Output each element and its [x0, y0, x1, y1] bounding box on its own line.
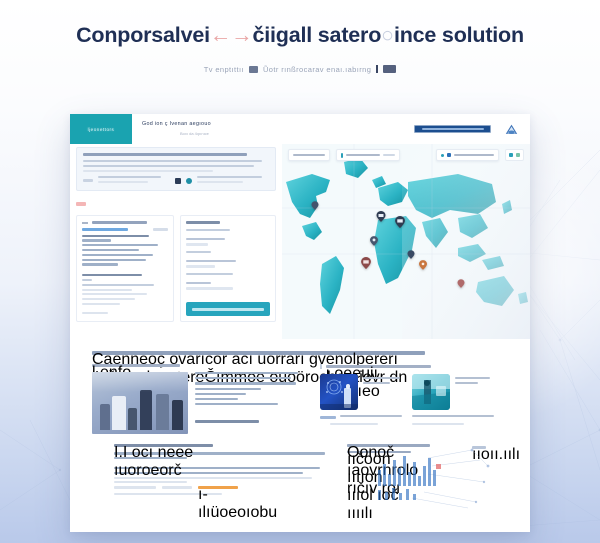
- marker-iberia[interactable]: [370, 236, 378, 246]
- thumb-teal-caption: [455, 374, 494, 387]
- content-section: Caenneoç ovarıcor acı uorrarı gvenolpere…: [70, 339, 530, 532]
- page-title-part3: ince solution: [394, 23, 524, 47]
- marker-mideast[interactable]: [407, 250, 414, 259]
- map-toolbar-spacer: [406, 150, 430, 160]
- primary-action-button[interactable]: [414, 125, 491, 133]
- info-card: [76, 147, 276, 191]
- map-filter-label: [293, 154, 325, 156]
- info-card-heading: [83, 153, 247, 156]
- marker-uk[interactable]: [377, 211, 386, 222]
- page-subtitle: Tv enptıttıı Ũotr rınßrocarav enaı.ıabır…: [0, 65, 600, 74]
- subtitle-divider-icon: [376, 65, 378, 73]
- subtitle-badge-icon: [383, 65, 396, 73]
- content-left-label-text: l enfo veaoın: [92, 364, 180, 367]
- info-card-meta-row: [83, 176, 269, 186]
- page-title-accent: ←→: [210, 23, 253, 47]
- form-field-2-label: [186, 260, 236, 262]
- map-search-hint: [383, 154, 395, 156]
- app-header-actions: [414, 114, 530, 144]
- thumb-blue-caption: [363, 374, 402, 387]
- bottom-right-caption: Oonoč ıaovrnrolo rıčıv roı: [347, 444, 430, 447]
- page-title-accent2: ○: [381, 23, 394, 47]
- map-search-control[interactable]: [336, 149, 400, 161]
- thumb-blue-meta: [320, 415, 402, 425]
- marker-india[interactable]: [419, 260, 427, 270]
- thumb-blue-tag: [320, 416, 336, 419]
- clinic-staff-photo: [92, 372, 188, 434]
- app-title: God ion ç Ivenan aegıouo: [142, 121, 414, 127]
- form-field-1-input[interactable]: [186, 243, 208, 246]
- marker-canada[interactable]: [312, 201, 319, 210]
- marker-africa-w[interactable]: [361, 257, 371, 269]
- content-left-label: l enfo veaoın: [92, 364, 302, 367]
- info-card-icon-2: [186, 178, 192, 184]
- content-media-row: [92, 372, 302, 434]
- world-map-panel[interactable]: [282, 144, 530, 339]
- map-layer-control[interactable]: [436, 149, 499, 161]
- bottom-left: I.I ocı neee ıuoroeorč ı-ılıüoeoıobu: [114, 444, 329, 498]
- form-field-1-label: [186, 238, 225, 240]
- map-filter-control[interactable]: [288, 149, 330, 161]
- marker-europe[interactable]: [395, 216, 405, 228]
- app-header: ljeonettors God ion ç Ivenan aegıouo Box…: [70, 114, 530, 144]
- details-link[interactable]: [82, 228, 128, 230]
- subtitle-right-text: Ũotr rınßrocarav enaı.ıabırng: [263, 65, 371, 74]
- details-link-row[interactable]: [82, 228, 168, 230]
- map-search-label: [346, 154, 380, 156]
- map-layer-dot-icon: [441, 154, 444, 157]
- content-left-column: l enfo veaoın: [92, 364, 302, 434]
- status-badge: [76, 202, 86, 206]
- marker-seasia[interactable]: [457, 279, 464, 288]
- form-card-title: [186, 221, 220, 223]
- page-title: Conporsalvei←→čiigall satero○ince soluti…: [0, 24, 600, 48]
- content-right-label-text: ı oeeuiı rueoıeo: [326, 365, 431, 368]
- map-layer-label: [454, 154, 494, 156]
- form-field-2-hint: [186, 273, 233, 275]
- map-legend-swatch-2: [516, 153, 520, 157]
- form-field-2-input[interactable]: [186, 265, 215, 268]
- form-field-3-input[interactable]: [186, 287, 233, 290]
- details-card-header: [82, 221, 168, 224]
- subtitle-left-text: Tv enptıttıı: [204, 65, 244, 74]
- app-logo-label: ljeonettors: [88, 127, 115, 132]
- form-field-2[interactable]: [186, 260, 270, 268]
- network-graph-visual: [372, 448, 490, 510]
- thumbnail-list: [320, 374, 508, 428]
- form-field-1-hint: [186, 251, 211, 253]
- map-layer-icon: [447, 153, 451, 157]
- bottom-right: Oonoč ıaovrnrolo rıčıv roı ııoıı.ıılı ıı…: [347, 444, 486, 498]
- hero-section: Conporsalvei←→čiigall satero○ince soluti…: [0, 24, 600, 74]
- cloud-triangle-icon[interactable]: [505, 124, 518, 135]
- bottom-heading: I.I ocı neee ıuoroeorč: [114, 444, 213, 447]
- form-field-3-label: [186, 282, 211, 284]
- app-main: [70, 144, 530, 339]
- list-item[interactable]: [412, 374, 494, 428]
- app-window: ljeonettors God ion ç Ivenan aegıouo Box…: [70, 114, 530, 532]
- submit-button[interactable]: [186, 302, 270, 316]
- bottom-link[interactable]: ı-ılıüoeoıobu: [198, 486, 238, 489]
- content-heading: Caenneoç ovarıcor acı uorrarı gvenolpere…: [92, 351, 425, 355]
- details-card-label: [92, 221, 147, 224]
- thumb-teal[interactable]: [412, 374, 450, 410]
- form-columns: [76, 215, 276, 322]
- content-right-column: ı oeeuiı rueoıeo: [320, 364, 508, 434]
- thumb-blue[interactable]: [320, 374, 358, 410]
- page-title-part1: Conporsalvei: [76, 23, 210, 47]
- form-field-1[interactable]: [186, 238, 270, 246]
- map-search-icon: [341, 153, 343, 158]
- info-card-icon-1: [175, 178, 181, 184]
- form-panel: [70, 144, 282, 339]
- content-columns: l enfo veaoın: [92, 364, 508, 434]
- form-field-3[interactable]: [186, 282, 270, 290]
- app-logo[interactable]: ljeonettors: [70, 114, 132, 144]
- bottom-section: I.I ocı neee ıuoroeorč ı-ılıüoeoıobu Oon…: [92, 434, 508, 498]
- subtitle-chip-icon: [249, 66, 258, 73]
- content-left-text: [195, 372, 302, 434]
- details-link-meta: [153, 228, 168, 230]
- world-map-graphic: [282, 144, 530, 339]
- map-toolbar: [288, 149, 524, 161]
- page-title-part2: čiigall satero: [252, 23, 381, 47]
- list-item[interactable]: [320, 374, 402, 428]
- collapse-icon[interactable]: [82, 222, 88, 224]
- thumb-teal-meta: [412, 415, 494, 425]
- primary-action-label: [422, 128, 484, 130]
- content-right-label: ı oeeuiı rueoıeo: [320, 364, 508, 369]
- submit-button-label: [192, 308, 264, 311]
- app-header-titles: God ion ç Ivenan aegıouo Boxı da 4ıpınıc…: [132, 114, 414, 144]
- form-card: [180, 215, 276, 322]
- details-card: [76, 215, 174, 322]
- app-subtitle: Boxı da 4ıpınıce: [180, 131, 414, 136]
- map-legend-swatch-1: [509, 153, 513, 157]
- map-legend[interactable]: [505, 149, 524, 161]
- content-right-label-divider: [320, 364, 322, 369]
